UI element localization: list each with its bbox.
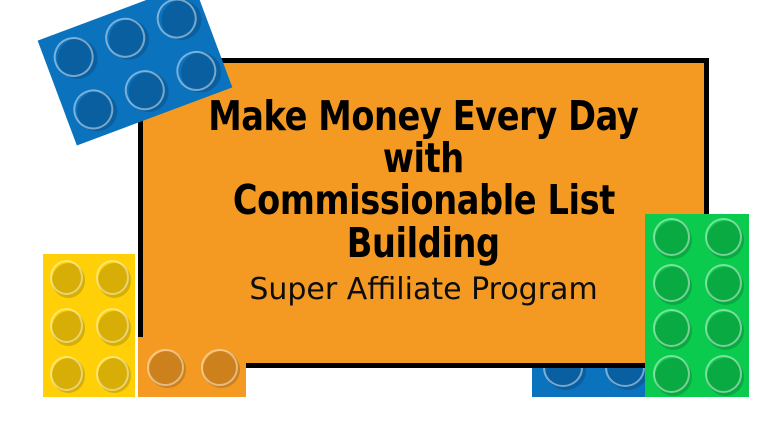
lego-stud-icon (96, 356, 129, 391)
lego-stud-icon (50, 308, 83, 343)
lego-stud-icon (50, 260, 83, 295)
lego-stud-icon (705, 264, 742, 302)
poster-canvas: Make Money Every Day with Commissionable… (0, 0, 778, 437)
lego-stud-icon (151, 0, 202, 44)
lego-stud-icon (67, 84, 118, 135)
lego-stud-icon (147, 349, 184, 386)
lego-stud-icon (119, 64, 170, 115)
lego-stud-icon (653, 264, 690, 302)
lego-stud-icon (705, 355, 742, 393)
lego-stud-icon (653, 218, 690, 256)
lego-stud-icon (705, 218, 742, 256)
stud-grid-orange-bottom (138, 337, 246, 397)
stud-grid-yellow (43, 254, 135, 397)
lego-stud-icon (171, 45, 222, 96)
lego-stud-icon (99, 12, 150, 63)
lego-stud-icon (653, 309, 690, 347)
lego-stud-icon (705, 309, 742, 347)
lego-stud-icon (50, 356, 83, 391)
lego-stud-icon (96, 308, 129, 343)
lego-stud-icon (201, 349, 238, 386)
lego-brick-yellow (43, 254, 135, 397)
lego-brick-green (645, 214, 749, 397)
lego-brick-orange-bottom (138, 337, 246, 397)
headline-panel (138, 58, 709, 368)
lego-stud-icon (653, 355, 690, 393)
lego-stud-icon (96, 260, 129, 295)
stud-grid-green (645, 214, 749, 397)
lego-stud-icon (48, 31, 99, 82)
